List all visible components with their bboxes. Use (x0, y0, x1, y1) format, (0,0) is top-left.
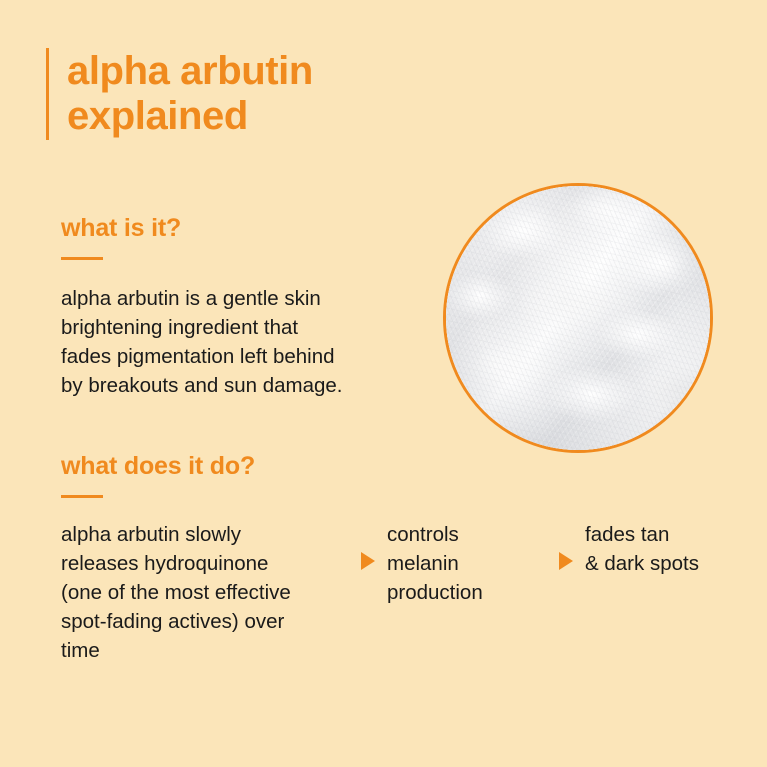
triangle-right-icon (361, 552, 375, 570)
section-heading-what-is-it: what is it? (61, 215, 181, 243)
page-title: alpha arbutin explained (67, 48, 313, 140)
alpha-arbutin-powder-image (443, 183, 713, 453)
flow-step-3-text: fades tan & dark spots (585, 520, 755, 578)
powder-vignette (446, 186, 710, 450)
flow-step-2: controls melanin production (387, 520, 547, 607)
infographic-canvas: alpha arbutin explained what is it? alph… (0, 0, 767, 767)
page-title-block: alpha arbutin explained (46, 48, 313, 140)
flow-step-1-text: alpha arbutin slowly releases hydroquino… (61, 520, 349, 666)
title-accent-bar (46, 48, 49, 140)
section-what-does-it-do-header: what does it do? (61, 453, 255, 498)
section-what-is-it-header: what is it? (61, 215, 181, 260)
flow-step-1: alpha arbutin slowly releases hydroquino… (61, 520, 349, 666)
section-heading-what-does-it-do: what does it do? (61, 453, 255, 481)
mechanism-flow-row: alpha arbutin slowly releases hydroquino… (61, 520, 721, 666)
section-underline (61, 257, 103, 260)
flow-arrow-1 (349, 520, 387, 570)
flow-arrow-2 (547, 520, 585, 570)
flow-step-3: fades tan & dark spots (585, 520, 755, 578)
section-underline (61, 495, 103, 498)
triangle-right-icon (559, 552, 573, 570)
section-body-what-is-it: alpha arbutin is a gentle skin brighteni… (61, 284, 391, 400)
flow-step-2-text: controls melanin production (387, 520, 547, 607)
